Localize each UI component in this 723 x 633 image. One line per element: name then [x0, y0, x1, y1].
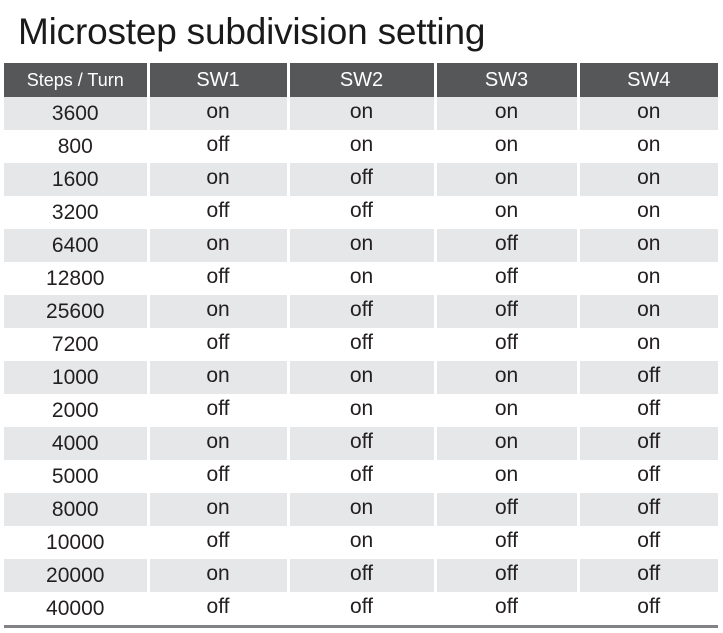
cell-steps-per-turn: 25600: [4, 295, 148, 328]
table-row: 40000offoffoffoff: [4, 592, 718, 627]
cell-sw3-state: off: [435, 328, 578, 361]
sw4-state-value: on: [637, 95, 660, 128]
sw4-state-value: on: [637, 227, 660, 260]
table-row: 10000offonoffoff: [4, 526, 718, 559]
cell-sw2-state: off: [288, 460, 435, 493]
cell-sw2-state: off: [288, 592, 435, 627]
sw1-state-value: off: [207, 458, 230, 491]
cell-sw2-state: off: [288, 559, 435, 592]
sw1-state-value: off: [207, 524, 230, 557]
table-row: 5000offoffonoff: [4, 460, 718, 493]
sw4-state-value: on: [637, 260, 660, 293]
cell-sw3-state: off: [435, 493, 578, 526]
column-header-sw1: SW1: [148, 63, 288, 97]
cell-sw3-state: on: [435, 361, 578, 394]
cell-steps-per-turn: 8000: [4, 493, 148, 526]
sw3-state-value: on: [495, 425, 518, 458]
cell-sw4-state: off: [578, 427, 718, 460]
cell-sw4-state: on: [578, 130, 718, 163]
cell-sw1-state: off: [148, 262, 288, 295]
cell-sw4-state: off: [578, 559, 718, 592]
cell-sw2-state: on: [288, 97, 435, 130]
cell-sw4-state: off: [578, 526, 718, 559]
cell-steps-per-turn: 3600: [4, 97, 148, 130]
cell-sw4-state: on: [578, 328, 718, 361]
sw1-state-value: on: [206, 95, 229, 128]
cell-sw4-state: on: [578, 97, 718, 130]
cell-sw1-state: on: [148, 559, 288, 592]
sw1-state-value: on: [206, 161, 229, 194]
sw3-state-value: off: [495, 260, 518, 293]
table-row: 7200offoffoffon: [4, 328, 718, 361]
sw3-state-value: off: [495, 227, 518, 260]
sw2-state-value: on: [350, 359, 373, 392]
table-row: 1000onononoff: [4, 361, 718, 394]
table-row: 3600onononon: [4, 97, 718, 130]
sw1-state-value: off: [207, 128, 230, 161]
cell-sw3-state: on: [435, 394, 578, 427]
cell-sw3-state: on: [435, 427, 578, 460]
cell-sw3-state: off: [435, 229, 578, 262]
cell-sw2-state: off: [288, 427, 435, 460]
cell-sw2-state: off: [288, 196, 435, 229]
sw1-state-value: on: [206, 557, 229, 590]
cell-sw2-state: on: [288, 394, 435, 427]
cell-steps-per-turn: 4000: [4, 427, 148, 460]
cell-steps-per-turn: 5000: [4, 460, 148, 493]
cell-sw1-state: off: [148, 526, 288, 559]
table-row: 25600onoffoffon: [4, 295, 718, 328]
sw1-state-value: off: [207, 590, 230, 623]
cell-steps-per-turn: 1600: [4, 163, 148, 196]
cell-sw3-state: off: [435, 526, 578, 559]
column-header-sw2: SW2: [288, 63, 435, 97]
sw2-state-value: off: [350, 557, 373, 590]
table-row: 800offononon: [4, 130, 718, 163]
cell-sw2-state: on: [288, 493, 435, 526]
sw3-state-value: on: [495, 128, 518, 161]
cell-steps-per-turn: 12800: [4, 262, 148, 295]
sw2-state-value: off: [350, 425, 373, 458]
sw4-state-value: off: [637, 557, 660, 590]
table-body: 3600onononon800offononon1600onoffonon320…: [4, 97, 718, 627]
sw4-state-value: off: [637, 359, 660, 392]
cell-sw2-state: off: [288, 328, 435, 361]
table-row: 8000ononoffoff: [4, 493, 718, 526]
sw1-state-value: on: [206, 293, 229, 326]
cell-sw1-state: on: [148, 361, 288, 394]
column-header-steps-per-turn: Steps / Turn: [4, 63, 148, 97]
sw3-state-value: on: [495, 359, 518, 392]
sw2-state-value: on: [350, 392, 373, 425]
sw4-state-value: on: [637, 194, 660, 227]
sw4-state-value: off: [637, 458, 660, 491]
microstep-table-container: Steps / Turn SW1 SW2 SW3 SW4 3600ononono…: [4, 63, 718, 628]
sw1-state-value: off: [207, 326, 230, 359]
sw3-state-value: off: [495, 524, 518, 557]
sw2-state-value: off: [350, 326, 373, 359]
sw3-state-value: off: [495, 491, 518, 524]
sw3-state-value: off: [495, 326, 518, 359]
sw4-state-value: off: [637, 491, 660, 524]
sw4-state-value: off: [637, 425, 660, 458]
cell-sw4-state: off: [578, 394, 718, 427]
cell-sw3-state: on: [435, 130, 578, 163]
page-title: Microstep subdivision setting: [18, 7, 485, 57]
cell-sw4-state: off: [578, 361, 718, 394]
sw3-state-value: on: [495, 392, 518, 425]
sw3-state-value: off: [495, 557, 518, 590]
sw3-state-value: on: [495, 458, 518, 491]
column-header-sw4: SW4: [578, 63, 718, 97]
sw4-state-value: off: [637, 524, 660, 557]
sw3-state-value: on: [495, 95, 518, 128]
cell-sw4-state: on: [578, 295, 718, 328]
sw4-state-value: off: [637, 392, 660, 425]
table-row: 4000onoffonoff: [4, 427, 718, 460]
sw1-state-value: on: [206, 425, 229, 458]
cell-sw1-state: on: [148, 427, 288, 460]
cell-sw2-state: on: [288, 262, 435, 295]
cell-sw1-state: off: [148, 328, 288, 361]
cell-steps-per-turn: 1000: [4, 361, 148, 394]
cell-sw4-state: on: [578, 163, 718, 196]
sw2-state-value: on: [350, 128, 373, 161]
sw3-state-value: on: [495, 161, 518, 194]
cell-sw1-state: off: [148, 592, 288, 627]
page-root: Microstep subdivision setting Steps / Tu…: [0, 0, 723, 633]
table-header-row: Steps / Turn SW1 SW2 SW3 SW4: [4, 63, 718, 97]
table-row: 2000offononoff: [4, 394, 718, 427]
microstep-subdivision-table: Steps / Turn SW1 SW2 SW3 SW4 3600ononono…: [4, 63, 718, 628]
sw2-state-value: off: [350, 161, 373, 194]
cell-sw1-state: off: [148, 394, 288, 427]
sw3-state-value: off: [495, 293, 518, 326]
sw2-state-value: on: [350, 260, 373, 293]
cell-sw3-state: off: [435, 295, 578, 328]
sw2-state-value: on: [350, 491, 373, 524]
cell-sw2-state: on: [288, 130, 435, 163]
cell-sw1-state: on: [148, 163, 288, 196]
cell-sw1-state: off: [148, 460, 288, 493]
cell-sw4-state: on: [578, 229, 718, 262]
sw1-state-value: off: [207, 194, 230, 227]
sw1-state-value: on: [206, 227, 229, 260]
sw2-state-value: on: [350, 227, 373, 260]
table-row: 6400ononoffon: [4, 229, 718, 262]
sw2-state-value: on: [350, 524, 373, 557]
sw1-state-value: off: [207, 260, 230, 293]
sw1-state-value: off: [207, 392, 230, 425]
cell-sw2-state: off: [288, 163, 435, 196]
cell-sw1-state: on: [148, 295, 288, 328]
cell-sw2-state: off: [288, 295, 435, 328]
sw4-state-value: on: [637, 161, 660, 194]
table-row: 20000onoffoffoff: [4, 559, 718, 592]
sw3-state-value: off: [495, 590, 518, 623]
cell-sw3-state: on: [435, 97, 578, 130]
cell-sw3-state: off: [435, 559, 578, 592]
cell-sw3-state: off: [435, 262, 578, 295]
cell-steps-per-turn: 800: [4, 130, 148, 163]
cell-sw4-state: off: [578, 460, 718, 493]
cell-sw3-state: on: [435, 460, 578, 493]
cell-steps-per-turn: 10000: [4, 526, 148, 559]
cell-steps-per-turn: 3200: [4, 196, 148, 229]
sw3-state-value: on: [495, 194, 518, 227]
cell-steps-per-turn: 6400: [4, 229, 148, 262]
cell-sw1-state: on: [148, 493, 288, 526]
cell-sw2-state: on: [288, 229, 435, 262]
table-header: Steps / Turn SW1 SW2 SW3 SW4: [4, 63, 718, 97]
sw1-state-value: on: [206, 491, 229, 524]
sw2-state-value: off: [350, 194, 373, 227]
cell-steps-per-turn: 40000: [4, 592, 148, 627]
sw4-state-value: on: [637, 293, 660, 326]
sw2-state-value: off: [350, 590, 373, 623]
sw1-state-value: on: [206, 359, 229, 392]
cell-sw3-state: on: [435, 163, 578, 196]
table-row: 12800offonoffon: [4, 262, 718, 295]
cell-sw1-state: on: [148, 97, 288, 130]
cell-sw4-state: on: [578, 262, 718, 295]
cell-sw4-state: off: [578, 493, 718, 526]
cell-sw1-state: off: [148, 196, 288, 229]
column-header-sw3: SW3: [435, 63, 578, 97]
sw2-state-value: off: [350, 293, 373, 326]
cell-sw3-state: on: [435, 196, 578, 229]
sw4-state-value: off: [637, 590, 660, 623]
cell-sw4-state: on: [578, 196, 718, 229]
cell-steps-per-turn: 20000: [4, 559, 148, 592]
sw4-state-value: on: [637, 128, 660, 161]
cell-steps-per-turn: 2000: [4, 394, 148, 427]
sw2-state-value: on: [350, 95, 373, 128]
cell-sw4-state: off: [578, 592, 718, 627]
table-row: 3200offoffonon: [4, 196, 718, 229]
sw4-state-value: on: [637, 326, 660, 359]
cell-sw2-state: on: [288, 526, 435, 559]
cell-steps-per-turn: 7200: [4, 328, 148, 361]
sw2-state-value: off: [350, 458, 373, 491]
table-row: 1600onoffonon: [4, 163, 718, 196]
cell-sw1-state: off: [148, 130, 288, 163]
cell-sw1-state: on: [148, 229, 288, 262]
cell-sw3-state: off: [435, 592, 578, 627]
cell-sw2-state: on: [288, 361, 435, 394]
